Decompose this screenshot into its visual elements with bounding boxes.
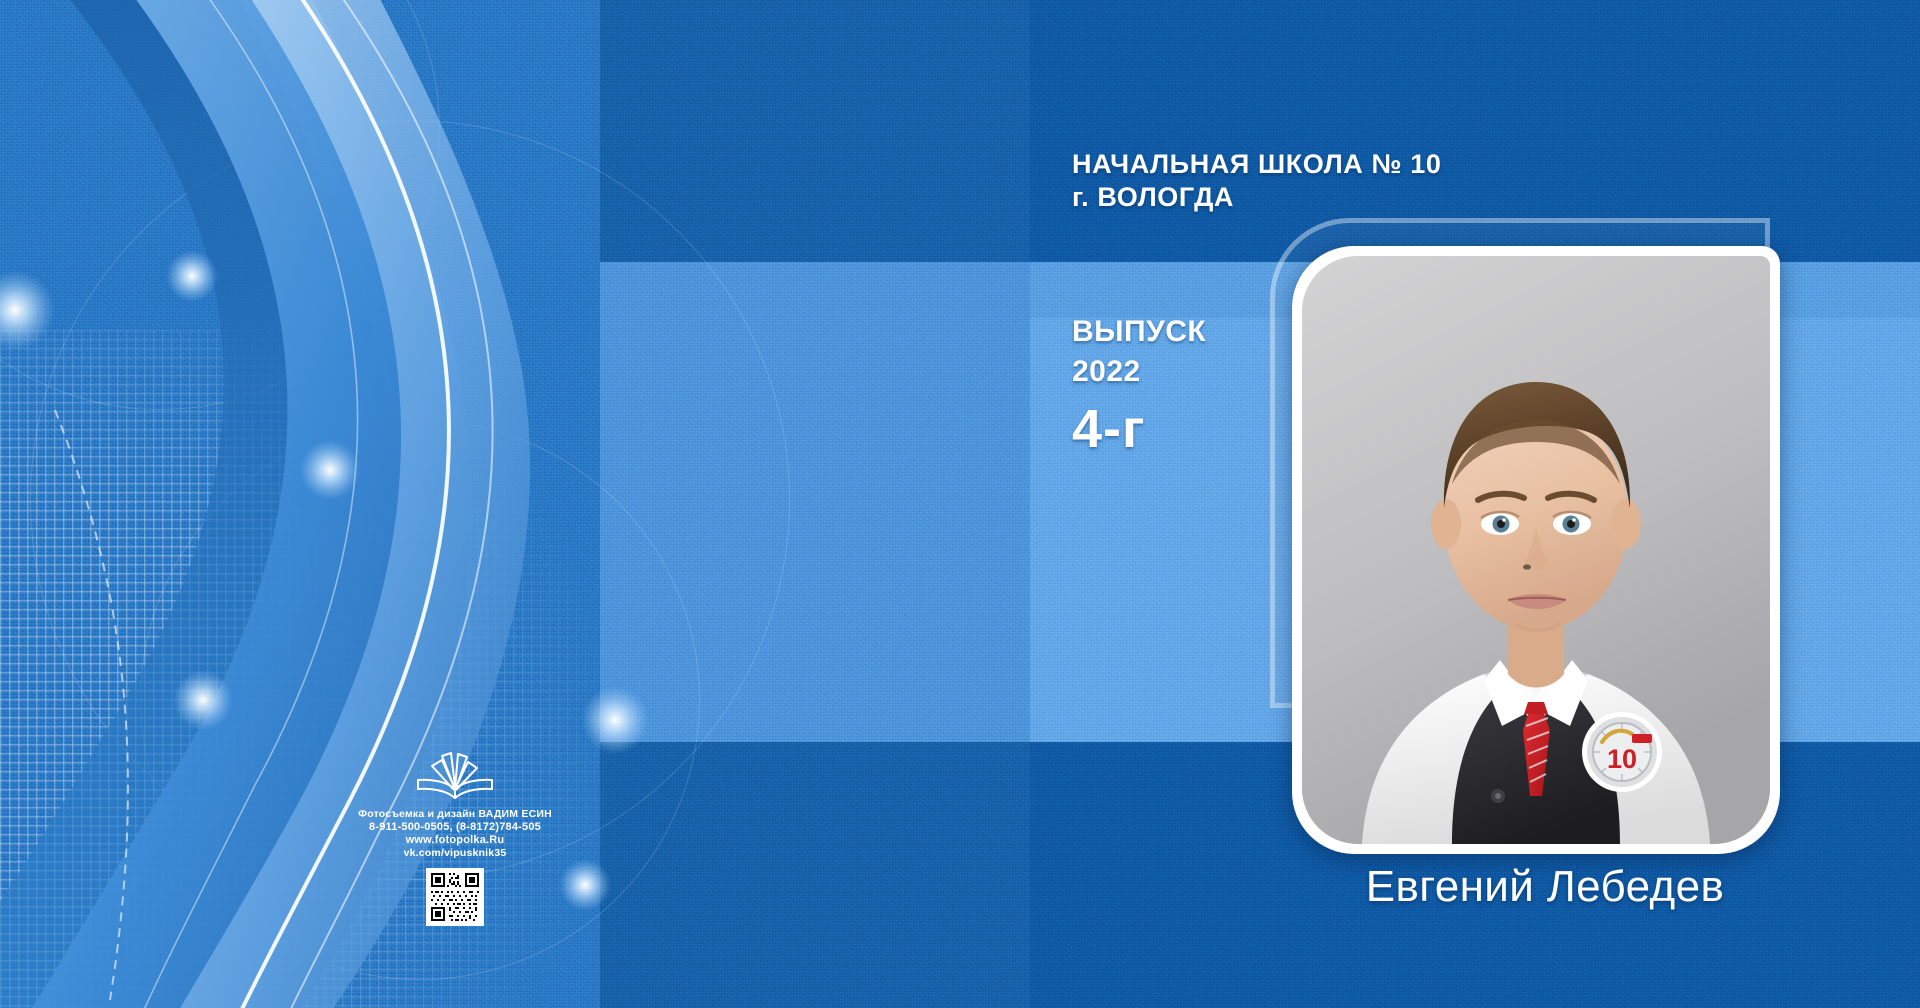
school-badge: 10 [1582, 712, 1662, 792]
graduation-info: ВЫПУСК 2022 4-г [1072, 316, 1206, 458]
school-title-line1: НАЧАЛЬНАЯ ШКОЛА № 10 [1072, 148, 1442, 181]
open-book-icon [408, 742, 502, 804]
credits-line-2: 8-911-500-0505, (8-8172)784-505 [330, 821, 580, 833]
school-title: НАЧАЛЬНАЯ ШКОЛА № 10 г. ВОЛОГДА [1072, 148, 1442, 214]
photographer-credits: Фотосъемка и дизайн ВАДИМ ЕСИН 8-911-500… [330, 742, 580, 926]
credits-line-1: Фотосъемка и дизайн ВАДИМ ЕСИН [330, 808, 580, 820]
credits-website[interactable]: www.fotopolka.Ru [330, 834, 580, 846]
student-name: Евгений Лебедев [1310, 862, 1780, 912]
graduation-year: 2022 [1072, 356, 1206, 388]
qr-code-icon[interactable] [426, 868, 484, 926]
graduation-label: ВЫПУСК [1072, 316, 1206, 348]
graduation-poster: НАЧАЛЬНАЯ ШКОЛА № 10 г. ВОЛОГДА ВЫПУСК 2… [0, 0, 1920, 1008]
svg-text:10: 10 [1607, 744, 1637, 774]
class-name: 4-г [1072, 401, 1206, 458]
school-title-line2: г. ВОЛОГДА [1072, 181, 1442, 214]
student-photo: 10 [1302, 256, 1770, 844]
credits-vk-link[interactable]: vk.com/vipusknik35 [330, 847, 580, 859]
photo-frame: 10 [1292, 246, 1780, 854]
